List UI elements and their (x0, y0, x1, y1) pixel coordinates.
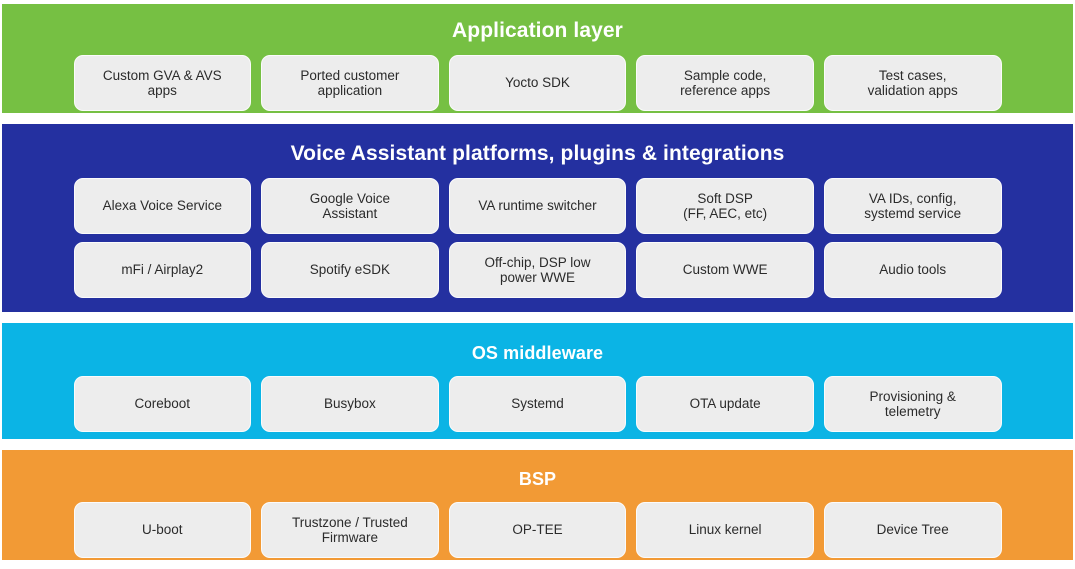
layer-title-bsp: BSP (2, 450, 1073, 488)
card-row: Custom GVA & AVS appsPorted customer app… (74, 55, 1002, 111)
component-card-label: OTA update (690, 396, 761, 412)
component-card-label: Custom GVA & AVS apps (103, 68, 222, 99)
component-card-label: Busybox (324, 396, 376, 412)
component-card-label: Google Voice Assistant (310, 191, 390, 222)
component-card-label: Sample code, reference apps (680, 68, 770, 99)
component-card-label: Device Tree (877, 522, 949, 538)
layer-rows-bsp: U-bootTrustzone / Trusted FirmwareOP-TEE… (74, 502, 1002, 558)
layer-rows-voice-assistant: Alexa Voice ServiceGoogle Voice Assistan… (74, 178, 1002, 298)
component-card-label: mFi / Airplay2 (121, 262, 203, 278)
component-card-label: Systemd (511, 396, 564, 412)
component-card[interactable]: OP-TEE (449, 502, 627, 558)
component-card[interactable]: Custom WWE (636, 242, 814, 298)
component-card-label: Custom WWE (683, 262, 768, 278)
component-card[interactable]: mFi / Airplay2 (74, 242, 252, 298)
component-card-label: Audio tools (879, 262, 946, 278)
layer-application: Application layerCustom GVA & AVS appsPo… (2, 4, 1073, 113)
component-card[interactable]: VA IDs, config, systemd service (824, 178, 1002, 234)
component-card[interactable]: Trustzone / Trusted Firmware (261, 502, 439, 558)
card-row: mFi / Airplay2Spotify eSDKOff-chip, DSP … (74, 242, 1002, 298)
component-card-label: Soft DSP (FF, AEC, etc) (683, 191, 767, 222)
component-card-label: Off-chip, DSP low power WWE (484, 255, 590, 286)
component-card-label: VA IDs, config, systemd service (864, 191, 961, 222)
component-card-label: Linux kernel (689, 522, 762, 538)
component-card-label: Spotify eSDK (310, 262, 390, 278)
component-card-label: Yocto SDK (505, 75, 570, 91)
component-card-label: VA runtime switcher (478, 198, 596, 214)
component-card[interactable]: Test cases, validation apps (824, 55, 1002, 111)
component-card[interactable]: Audio tools (824, 242, 1002, 298)
component-card[interactable]: Custom GVA & AVS apps (74, 55, 252, 111)
component-card[interactable]: Ported customer application (261, 55, 439, 111)
layer-title-voice-assistant: Voice Assistant platforms, plugins & int… (2, 124, 1073, 164)
component-card[interactable]: VA runtime switcher (449, 178, 627, 234)
component-card[interactable]: Sample code, reference apps (636, 55, 814, 111)
layer-rows-os-middleware: CorebootBusyboxSystemdOTA updateProvisio… (74, 376, 1002, 432)
component-card-label: Ported customer application (300, 68, 399, 99)
component-card[interactable]: Provisioning & telemetry (824, 376, 1002, 432)
component-card-label: Provisioning & telemetry (870, 389, 956, 420)
layer-title-application: Application layer (2, 4, 1073, 41)
layer-os-middleware: OS middlewareCorebootBusyboxSystemdOTA u… (2, 323, 1073, 439)
component-card-label: Alexa Voice Service (103, 198, 222, 214)
card-row: U-bootTrustzone / Trusted FirmwareOP-TEE… (74, 502, 1002, 558)
card-row: Alexa Voice ServiceGoogle Voice Assistan… (74, 178, 1002, 234)
component-card-label: OP-TEE (512, 522, 562, 538)
layer-rows-application: Custom GVA & AVS appsPorted customer app… (74, 55, 1002, 111)
component-card[interactable]: U-boot (74, 502, 252, 558)
layer-bsp: BSPU-bootTrustzone / Trusted FirmwareOP-… (2, 450, 1073, 560)
layer-voice-assistant: Voice Assistant platforms, plugins & int… (2, 124, 1073, 312)
architecture-diagram: Application layerCustom GVA & AVS appsPo… (0, 0, 1075, 569)
component-card[interactable]: Soft DSP (FF, AEC, etc) (636, 178, 814, 234)
component-card[interactable]: Alexa Voice Service (74, 178, 252, 234)
component-card[interactable]: Spotify eSDK (261, 242, 439, 298)
component-card[interactable]: Linux kernel (636, 502, 814, 558)
component-card[interactable]: Coreboot (74, 376, 252, 432)
component-card[interactable]: Systemd (449, 376, 627, 432)
card-row: CorebootBusyboxSystemdOTA updateProvisio… (74, 376, 1002, 432)
component-card-label: Trustzone / Trusted Firmware (292, 515, 408, 546)
component-card-label: U-boot (142, 522, 183, 538)
component-card[interactable]: Busybox (261, 376, 439, 432)
component-card[interactable]: Off-chip, DSP low power WWE (449, 242, 627, 298)
component-card-label: Test cases, validation apps (868, 68, 958, 99)
component-card[interactable]: Device Tree (824, 502, 1002, 558)
layer-title-os-middleware: OS middleware (2, 323, 1073, 362)
component-card-label: Coreboot (135, 396, 191, 412)
component-card[interactable]: Yocto SDK (449, 55, 627, 111)
component-card[interactable]: OTA update (636, 376, 814, 432)
component-card[interactable]: Google Voice Assistant (261, 178, 439, 234)
